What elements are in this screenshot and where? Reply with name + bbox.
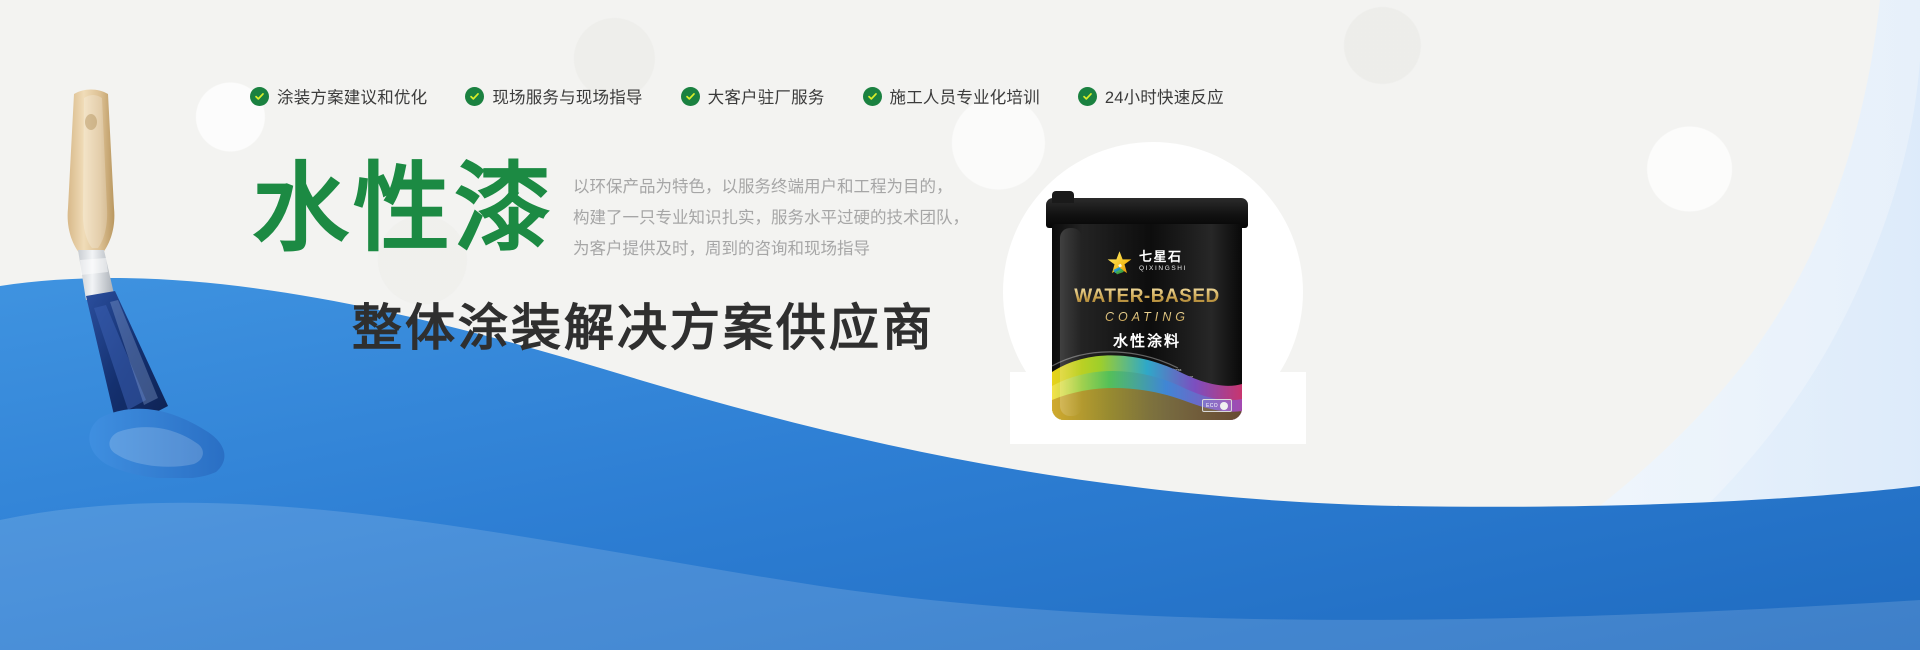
feature-item[interactable]: 涂装方案建议和优化 <box>250 84 427 108</box>
page-title: 水性漆 <box>252 160 555 259</box>
check-circle-icon <box>250 87 269 106</box>
feature-item[interactable]: 施工人员专业化培训 <box>863 84 1040 108</box>
eco-badge-label: ECO <box>1206 403 1218 409</box>
feature-label: 大客户驻厂服务 <box>708 84 825 108</box>
check-circle-icon <box>681 87 700 106</box>
paint-brush-illustration <box>40 88 230 478</box>
feature-list: 涂装方案建议和优化 现场服务与现场指导 大客户驻厂服务 <box>250 84 1224 108</box>
feature-label: 24小时快速反应 <box>1105 84 1224 108</box>
eco-badge: ECO <box>1202 399 1232 412</box>
hero-heading-row: 水性漆 以环保产品为特色，以服务终端用户和工程为目的， 构建了一只专业知识扎实，… <box>252 160 969 265</box>
hero-description-line: 为客户提供及时，周到的咨询和现场指导 <box>573 234 969 265</box>
feature-item[interactable]: 24小时快速反应 <box>1078 84 1224 108</box>
check-circle-icon <box>863 87 882 106</box>
hero-banner: 涂装方案建议和优化 现场服务与现场指导 大客户驻厂服务 <box>0 0 1920 650</box>
bucket-body: 七星石 QIXINGSHI WATER-BASED COATING 水性涂料 H… <box>1052 224 1242 420</box>
hero-subtitle: 整体涂装解决方案供应商 <box>352 288 935 360</box>
hero-description: 以环保产品为特色，以服务终端用户和工程为目的， 构建了一只专业知识扎实，服务水平… <box>573 160 969 265</box>
feature-item[interactable]: 大客户驻厂服务 <box>681 84 825 108</box>
hero-description-line: 构建了一只专业知识扎实，服务水平过硬的技术团队， <box>573 203 969 234</box>
feature-label: 涂装方案建议和优化 <box>277 84 427 108</box>
check-circle-icon <box>465 87 484 106</box>
product-label-main: WATER-BASED <box>1052 286 1242 308</box>
product-label-sub: COATING <box>1052 310 1242 324</box>
feature-item[interactable]: 现场服务与现场指导 <box>465 84 642 108</box>
feature-label: 施工人员专业化培训 <box>890 84 1040 108</box>
check-circle-icon <box>1078 87 1097 106</box>
brand-name-cn: 七星石 <box>1139 251 1187 265</box>
feature-label: 现场服务与现场指导 <box>492 84 642 108</box>
brand-name-en: QIXINGSHI <box>1139 265 1187 273</box>
eco-badge-dot <box>1220 402 1228 410</box>
brand-lockup: 七星石 QIXINGSHI <box>1052 250 1242 275</box>
star-logo-icon <box>1107 250 1132 275</box>
hero-description-line: 以环保产品为特色，以服务终端用户和工程为目的， <box>573 172 969 203</box>
product-paint-bucket[interactable]: 七星石 QIXINGSHI WATER-BASED COATING 水性涂料 H… <box>1046 198 1248 420</box>
